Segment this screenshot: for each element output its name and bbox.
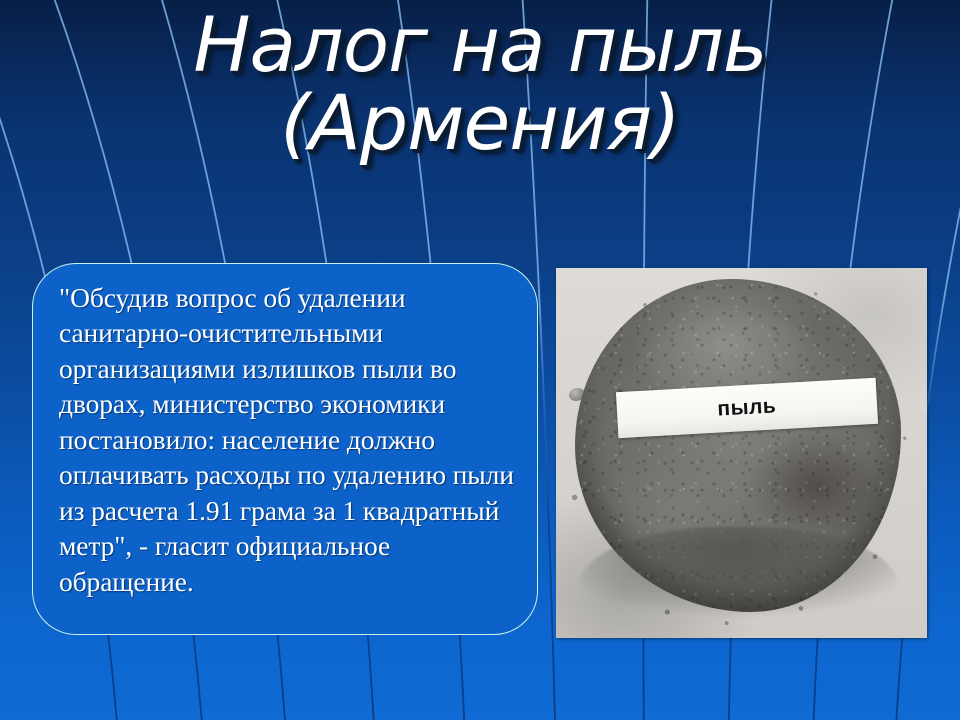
presentation-slide: Налог на пыль (Армения) "Обсудив вопрос … — [0, 0, 960, 720]
photo-surface: пыль — [556, 268, 927, 638]
photo-label-text: пыль — [717, 394, 777, 421]
slide-title: Налог на пыль (Армения) — [0, 6, 960, 161]
slide-title-line-2: (Армения) — [0, 84, 960, 162]
dust-photo: пыль — [556, 268, 927, 638]
quote-body-text: "Обсудив вопрос об удалении санитарно-оч… — [59, 280, 519, 599]
photo-dust-fringe — [578, 527, 897, 623]
quote-text-box: "Обсудив вопрос об удалении санитарно-оч… — [32, 263, 538, 635]
slide-title-line-1: Налог на пыль — [0, 6, 960, 84]
